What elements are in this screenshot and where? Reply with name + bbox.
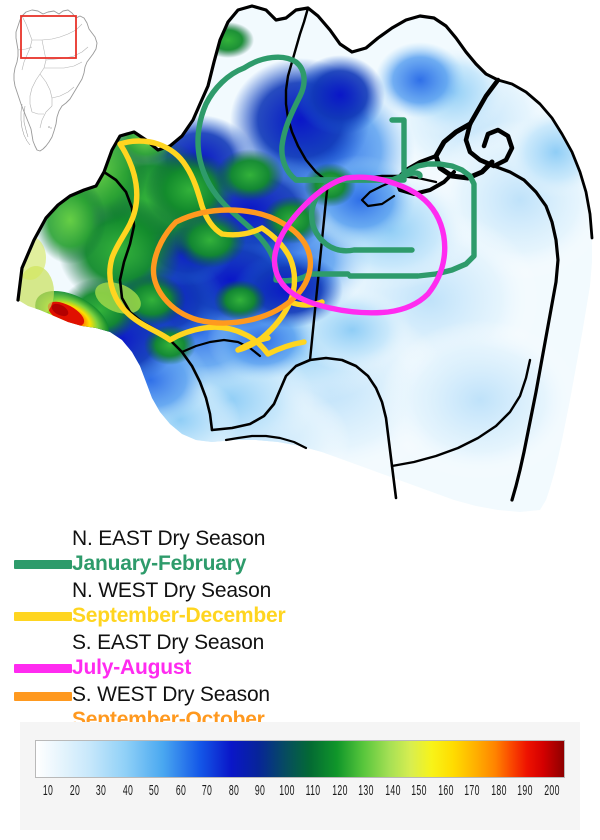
colorbar-tick-130: 130 — [355, 782, 378, 799]
legend-entry-north-east: N. EAST Dry Season January-February — [0, 519, 600, 571]
colorbar-tick-110: 110 — [302, 782, 325, 799]
colorbar-tick-80: 80 — [222, 782, 245, 799]
colorbar-tick-140: 140 — [381, 782, 404, 799]
legend-swatch-north-east — [14, 560, 72, 569]
legend-swatch-north-west — [14, 612, 72, 621]
colorbar-tick-labels: 1020304050607080901001101201301401501601… — [35, 782, 565, 808]
colorbar-tick-190: 190 — [514, 782, 537, 799]
legend-entry-south-east: S. EAST Dry Season July-August — [0, 623, 600, 675]
legend-title-south-west: S. WEST Dry Season — [72, 683, 270, 707]
legend-swatch-south-west — [14, 692, 72, 701]
precipitation-figure: N. EAST Dry Season January-February N. W… — [0, 0, 600, 840]
legend-entry-south-west: S. WEST Dry Season September-October — [0, 675, 600, 727]
inset-svg — [2, 2, 106, 160]
colorbar-tick-90: 90 — [249, 782, 272, 799]
legend-title-south-east: S. EAST Dry Season — [72, 631, 264, 655]
colorbar-tick-150: 150 — [408, 782, 431, 799]
colorbar-tick-50: 50 — [143, 782, 166, 799]
inset-background — [2, 2, 106, 160]
colorbar-tick-200: 200 — [540, 782, 563, 799]
colorbar-gradient — [35, 740, 565, 778]
colorbar-tick-100: 100 — [275, 782, 298, 799]
colorbar-tick-20: 20 — [63, 782, 86, 799]
colorbar-tick-120: 120 — [328, 782, 351, 799]
locator-inset — [2, 2, 106, 160]
colorbar-tick-30: 30 — [90, 782, 113, 799]
legend-panel: N. EAST Dry Season January-February N. W… — [0, 515, 600, 722]
colorbar-tick-60: 60 — [169, 782, 192, 799]
colorbar-tick-180: 180 — [487, 782, 510, 799]
map-panel — [0, 0, 600, 515]
legend-title-north-east: N. EAST Dry Season — [72, 527, 265, 551]
colorbar-tick-170: 170 — [461, 782, 484, 799]
colorbar-panel: 1020304050607080901001101201301401501601… — [20, 722, 580, 830]
legend-swatch-south-east — [14, 664, 72, 673]
colorbar-tick-70: 70 — [196, 782, 219, 799]
legend-entry-north-west: N. WEST Dry Season September-December — [0, 571, 600, 623]
colorbar-tick-40: 40 — [116, 782, 139, 799]
colorbar-tick-160: 160 — [434, 782, 457, 799]
legend-title-north-west: N. WEST Dry Season — [72, 579, 271, 603]
colorbar-tick-10: 10 — [37, 782, 60, 799]
